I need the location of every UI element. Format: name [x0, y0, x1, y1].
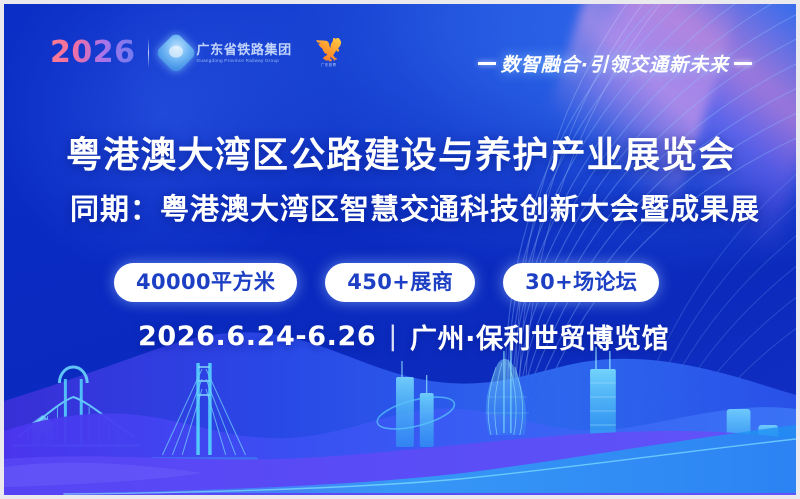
stats-row: 40000平方米 450+展商 30+场论坛 — [114, 263, 659, 302]
tagline: 数智融合·引领交通新未来 — [478, 50, 752, 77]
page-subtitle: 同期：粤港澳大湾区智慧交通科技创新大会暨成果展 — [70, 186, 760, 228]
event-date-venue: 2026.6.24-6.26 | 广州·保利世贸博览馆 — [138, 317, 669, 356]
date-venue-separator: | — [388, 321, 398, 352]
organizer-name-en: Guangdong Province Railway Group — [197, 58, 292, 64]
page-title: 粤港澳大湾区公路建设与养护产业展览会 — [66, 126, 736, 178]
bird-logo-icon: 🦅 — [314, 38, 344, 62]
stat-pill-exhibitors: 450+展商 — [325, 263, 475, 302]
event-venue: 广州·保利世贸博览馆 — [410, 317, 669, 356]
tagline-rule-right — [734, 62, 752, 65]
tagline-rule-left — [478, 62, 496, 65]
event-poster: 2026 广东省铁路集团 Guangdong Province Railway … — [0, 0, 800, 499]
stat-pill-area: 40000平方米 — [114, 263, 297, 302]
event-date: 2026.6.24-6.26 — [138, 321, 376, 352]
bird-logo-caption: 广东铁青 — [321, 63, 337, 68]
tagline-text: 数智融合·引领交通新未来 — [501, 50, 729, 77]
year-logo: 2026 — [50, 38, 136, 68]
diamond-logo-icon — [154, 32, 196, 74]
organizer-name-cn: 广东省铁路集团 — [197, 43, 292, 57]
logo-divider — [148, 38, 149, 68]
stat-pill-forums: 30+场论坛 — [503, 263, 659, 302]
header-logo-row: 2026 广东省铁路集团 Guangdong Province Railway … — [50, 38, 344, 68]
organizer-name-block: 广东省铁路集团 Guangdong Province Railway Group — [197, 43, 292, 64]
organizer-logo: 广东省铁路集团 Guangdong Province Railway Group — [161, 38, 292, 68]
bird-logo: 🦅 广东铁青 — [314, 38, 344, 68]
